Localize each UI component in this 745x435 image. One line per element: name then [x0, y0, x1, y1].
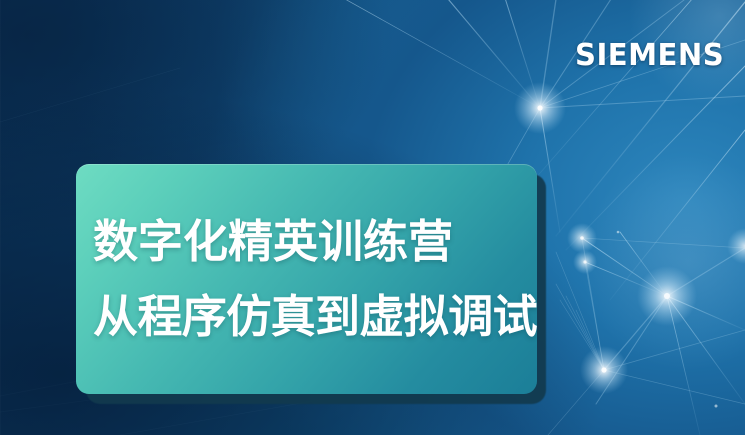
title-line-1: 数字化精英训练营 [93, 213, 537, 271]
title-card: 数字化精英训练营 从程序仿真到虚拟调试 [76, 164, 537, 394]
siemens-logo: SIEMENS [575, 38, 711, 74]
siemens-training-banner: SIEMENS 数字化精英训练营 从程序仿真到虚拟调试 [0, 0, 745, 435]
title-line-2: 从程序仿真到虚拟调试 [93, 288, 537, 346]
